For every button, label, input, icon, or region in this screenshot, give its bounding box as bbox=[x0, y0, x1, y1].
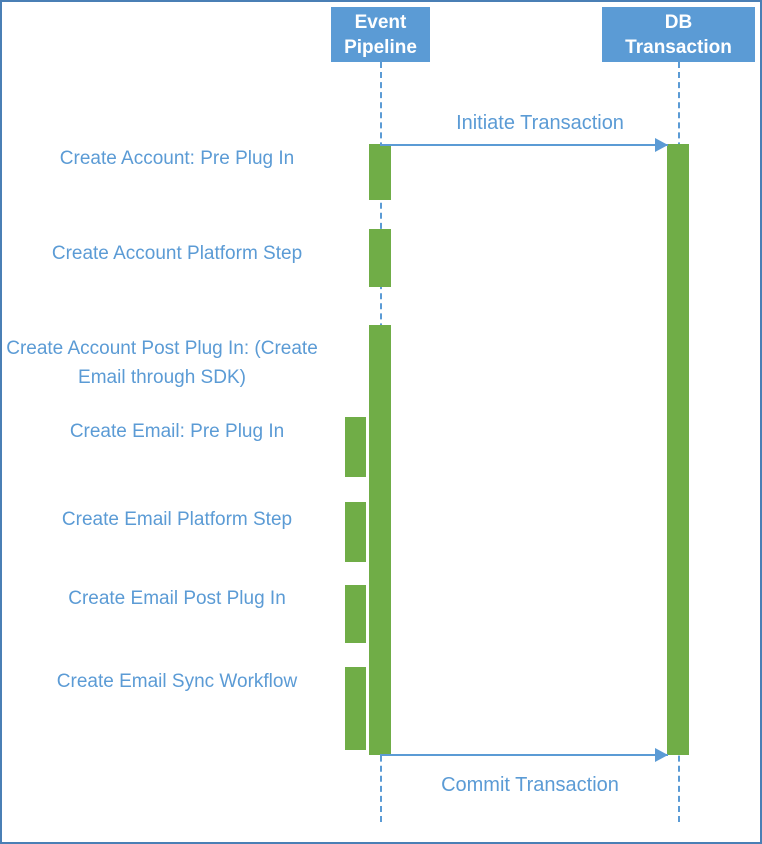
message-line-commit-transaction bbox=[380, 754, 668, 756]
step-label-create-account-platform-step: Create Account Platform Step bbox=[32, 239, 322, 268]
activation-bar-create-email-sync-workflow bbox=[345, 667, 366, 750]
step-label-create-email-sync-workflow: Create Email Sync Workflow bbox=[32, 667, 322, 696]
message-label-initiate-transaction: Initiate Transaction bbox=[420, 110, 660, 136]
step-label-create-email-pre-plug-in: Create Email: Pre Plug In bbox=[32, 417, 322, 446]
step-label-create-account-post-plug-in: Create Account Post Plug In: (Create Ema… bbox=[2, 334, 322, 392]
step-label-create-email-platform-step: Create Email Platform Step bbox=[32, 505, 322, 534]
step-label-create-account-pre-plug-in: Create Account: Pre Plug In bbox=[32, 144, 322, 173]
activation-bar-create-account-post-plug-in bbox=[369, 325, 391, 755]
lifeline-header-db-transaction[interactable]: DB Transaction bbox=[602, 7, 755, 62]
lifeline-header-db-transaction-line2: Transaction bbox=[625, 35, 732, 60]
activation-bar-create-account-pre-plug-in bbox=[369, 144, 391, 200]
activation-bar-create-email-post-plug-in bbox=[345, 585, 366, 643]
step-label-create-email-post-plug-in: Create Email Post Plug In bbox=[32, 584, 322, 613]
activation-bar-create-email-pre-plug-in bbox=[345, 417, 366, 477]
message-label-commit-transaction: Commit Transaction bbox=[410, 772, 650, 798]
activation-bar-create-email-platform-step bbox=[345, 502, 366, 562]
message-line-initiate-transaction bbox=[380, 144, 668, 146]
message-arrowhead-commit-transaction bbox=[655, 748, 668, 762]
lifeline-header-event-pipeline[interactable]: Event Pipeline bbox=[331, 7, 430, 62]
message-arrowhead-initiate-transaction bbox=[655, 138, 668, 152]
activation-bar-db-transaction bbox=[667, 144, 689, 755]
lifeline-header-event-pipeline-line1: Event bbox=[344, 10, 417, 35]
lifeline-header-event-pipeline-line2: Pipeline bbox=[344, 35, 417, 60]
lifeline-header-db-transaction-line1: DB bbox=[625, 10, 732, 35]
activation-bar-create-account-platform-step bbox=[369, 229, 391, 287]
sequence-diagram: Event Pipeline DB Transaction Initiate T… bbox=[0, 0, 762, 844]
